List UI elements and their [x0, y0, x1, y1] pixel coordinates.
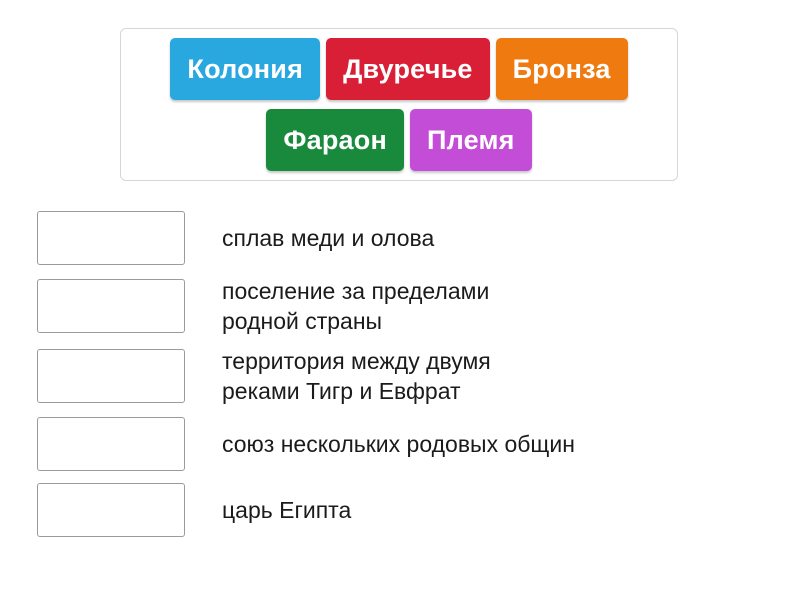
tile-row-1: Колония Двуречье Бронза [167, 38, 630, 100]
definition-row: поселение за пределами родной страны [37, 276, 767, 336]
word-tile-bank: Колония Двуречье Бронза Фараон Племя [120, 28, 678, 181]
definition-text-1: сплав меди и олова [222, 223, 767, 253]
drop-box-1[interactable] [37, 211, 185, 265]
tile-plemya[interactable]: Племя [410, 109, 532, 171]
tile-koloniya[interactable]: Колония [170, 38, 320, 100]
definition-row: союз нескольких родовых общин [37, 416, 767, 472]
tile-label: Бронза [513, 54, 611, 85]
definition-row: территория между двумя реками Тигр и Евф… [37, 346, 767, 406]
drop-box-2[interactable] [37, 279, 185, 333]
tile-label: Колония [187, 54, 303, 85]
tile-faraon[interactable]: Фараон [266, 109, 404, 171]
tile-label: Фараон [283, 125, 387, 156]
drop-box-5[interactable] [37, 483, 185, 537]
definition-text-5: царь Египта [222, 495, 767, 525]
definition-list: сплав меди и олова поселение за пределам… [37, 210, 767, 548]
definition-row: царь Египта [37, 482, 767, 538]
drop-box-4[interactable] [37, 417, 185, 471]
definition-text-3: территория между двумя реками Тигр и Евф… [222, 346, 767, 406]
tile-label: Двуречье [343, 54, 473, 85]
drop-box-3[interactable] [37, 349, 185, 403]
definition-text-2: поселение за пределами родной страны [222, 276, 767, 336]
tile-label: Племя [427, 125, 515, 156]
definition-text-4: союз нескольких родовых общин [222, 429, 767, 459]
tile-row-2: Фараон Племя [263, 109, 534, 171]
tile-dvurechye[interactable]: Двуречье [326, 38, 490, 100]
tile-bronza[interactable]: Бронза [496, 38, 628, 100]
definition-row: сплав меди и олова [37, 210, 767, 266]
